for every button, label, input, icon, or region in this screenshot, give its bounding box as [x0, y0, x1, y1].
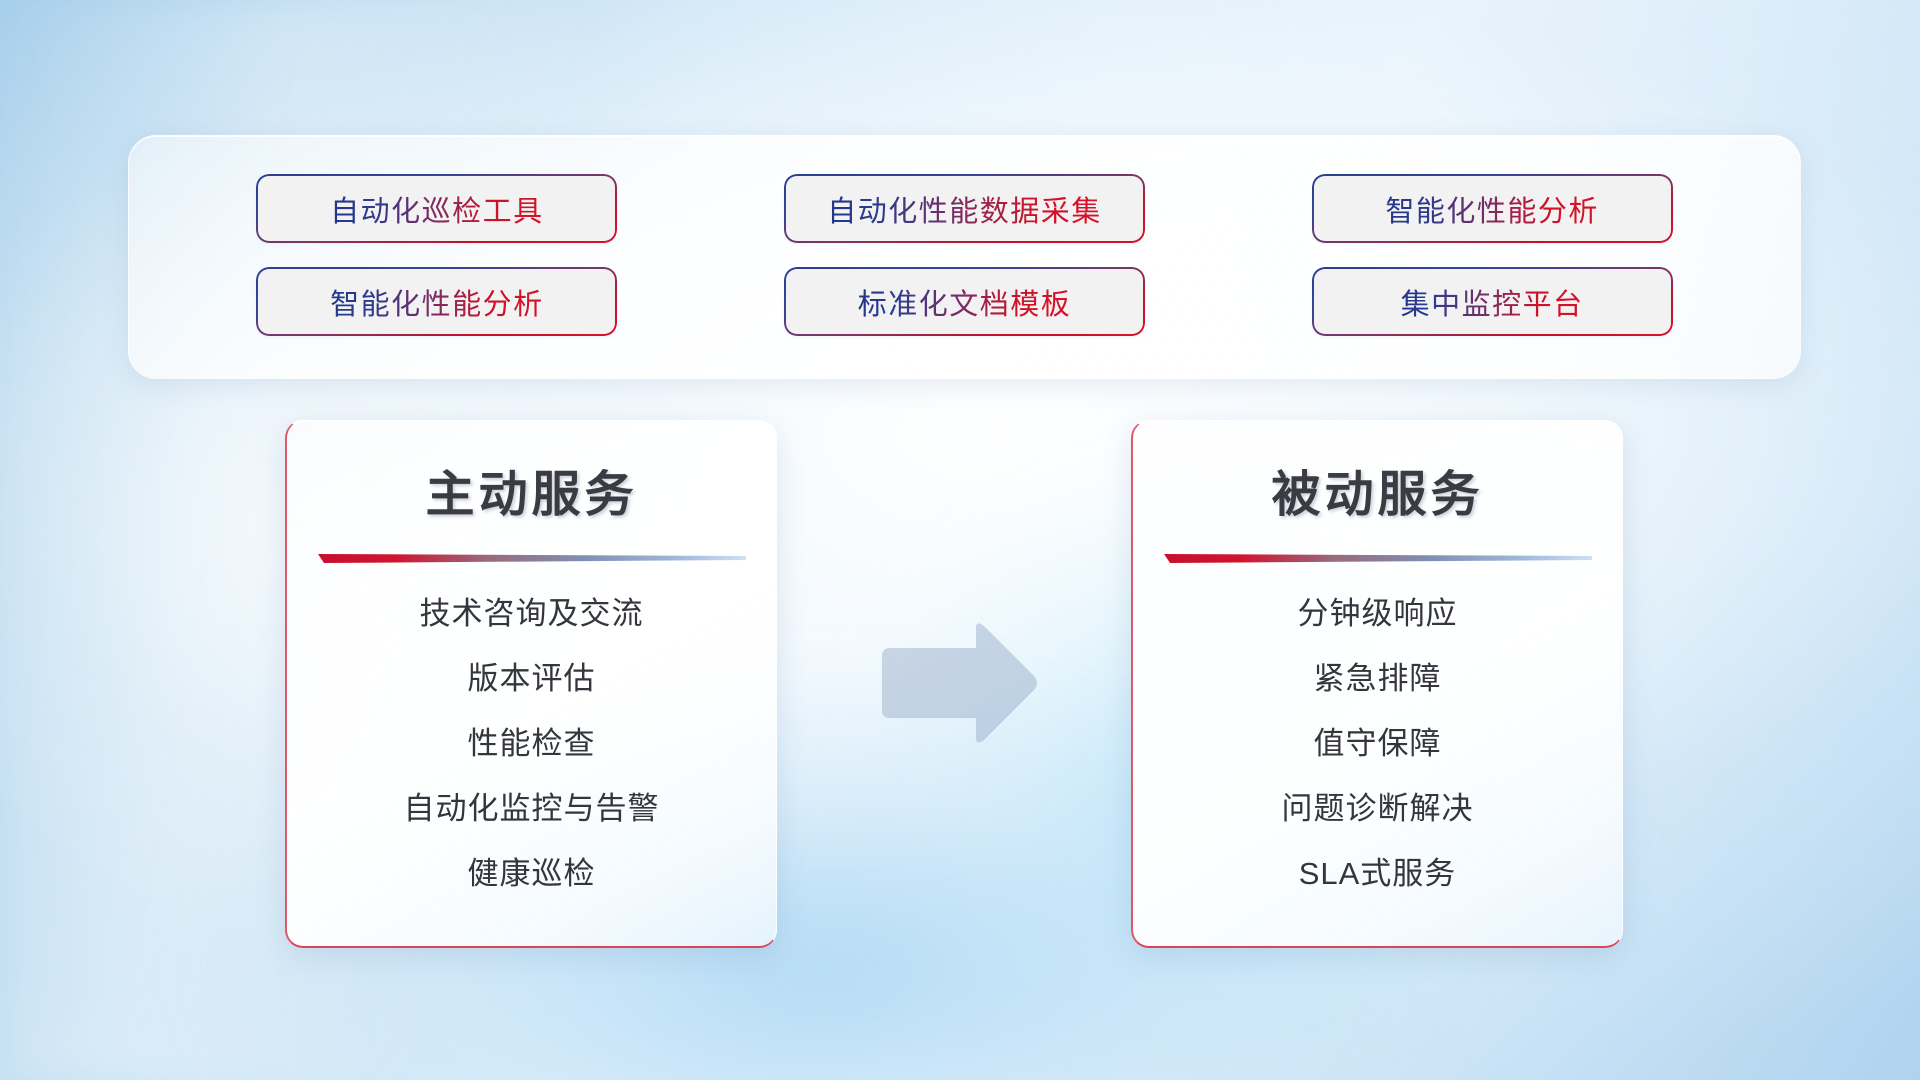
service-item-list: 分钟级响应 紧急排障 值守保障 问题诊断解决 SLA式服务 — [1133, 588, 1622, 893]
service-list-item: 紧急排障 — [1314, 653, 1442, 698]
service-list-item: SLA式服务 — [1299, 848, 1457, 893]
capability-chip[interactable]: 自动化巡检工具 — [258, 176, 615, 241]
capability-chip-grid: 自动化巡检工具 自动化性能数据采集 智能化性能分析 智能化性能分析 标准化文档模… — [129, 136, 1800, 378]
capability-chip-label: 标准化文档模板 — [858, 281, 1072, 323]
card-divider-rule — [1164, 552, 1592, 564]
capability-chip-label: 集中监控平台 — [1401, 281, 1584, 323]
service-card-proactive: 主动服务 技术咨询及交流 版本评估 性能检查 自动化监控与告警 健康巡检 — [285, 420, 777, 948]
service-card-title: 主动服务 — [287, 455, 776, 526]
service-card-title: 被动服务 — [1133, 455, 1622, 526]
capability-chip-label: 自动化性能数据采集 — [827, 188, 1102, 230]
capability-chip[interactable]: 智能化性能分析 — [1314, 176, 1671, 241]
service-list-item: 问题诊断解决 — [1282, 783, 1474, 828]
capability-chip[interactable]: 智能化性能分析 — [258, 269, 615, 334]
service-list-item: 值守保障 — [1314, 718, 1442, 763]
service-item-list: 技术咨询及交流 版本评估 性能检查 自动化监控与告警 健康巡检 — [287, 588, 776, 893]
capability-chip[interactable]: 集中监控平台 — [1314, 269, 1671, 334]
right-arrow-icon — [876, 622, 1040, 744]
capabilities-panel: 自动化巡检工具 自动化性能数据采集 智能化性能分析 智能化性能分析 标准化文档模… — [128, 135, 1801, 379]
capability-chip-label: 自动化巡检工具 — [330, 188, 544, 230]
service-list-item: 分钟级响应 — [1298, 588, 1458, 633]
capability-chip[interactable]: 标准化文档模板 — [786, 269, 1143, 334]
service-list-item: 自动化监控与告警 — [404, 783, 660, 828]
service-list-item: 版本评估 — [468, 653, 596, 698]
capability-chip-label: 智能化性能分析 — [330, 281, 544, 323]
service-list-item: 技术咨询及交流 — [420, 588, 644, 633]
service-list-item: 性能检查 — [468, 718, 596, 763]
capability-chip[interactable]: 自动化性能数据采集 — [786, 176, 1143, 241]
service-card-reactive: 被动服务 分钟级响应 紧急排障 值守保障 问题诊断解决 SLA式服务 — [1131, 420, 1623, 948]
service-list-item: 健康巡检 — [468, 848, 596, 893]
card-divider-rule — [318, 552, 746, 564]
capability-chip-label: 智能化性能分析 — [1385, 188, 1599, 230]
